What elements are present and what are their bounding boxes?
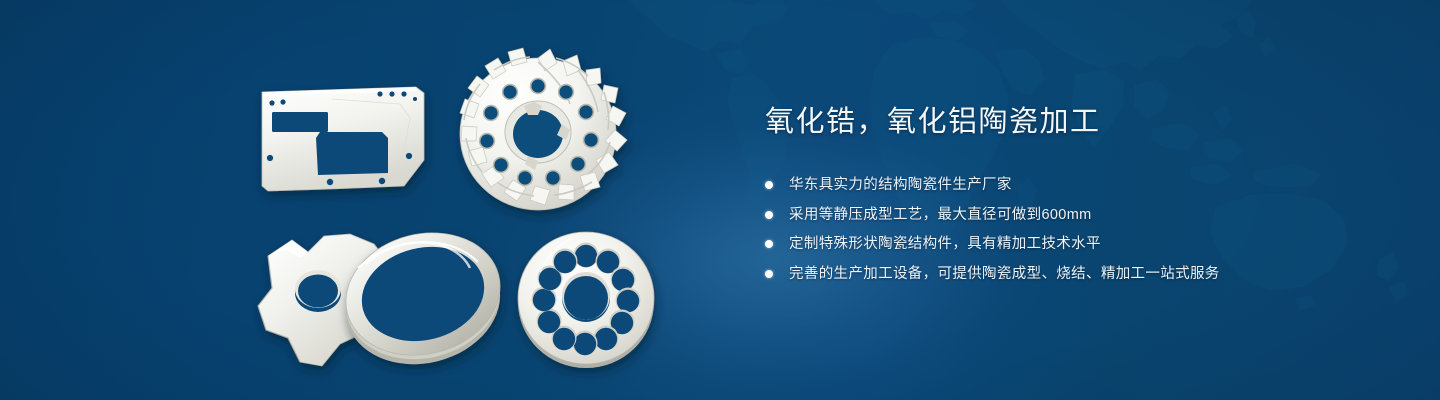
list-item: 定制特殊形状陶瓷结构件，具有精加工技术水平 [765,232,1385,256]
bullet-dot-icon [765,270,773,278]
feature-text: 采用等静压成型工艺，最大直径可做到600mm [789,207,1092,223]
bullet-dot-icon [765,211,773,219]
hero-banner: 氧化锆，氧化铝陶瓷加工 华东具实力的结构陶瓷件生产厂家 采用等静压成型工艺，最大… [0,0,1440,400]
ceramic-plate [262,87,424,191]
page-title: 氧化锆，氧化铝陶瓷加工 [765,104,1385,140]
feature-text: 华东具实力的结构陶瓷件生产厂家 [789,177,1012,193]
ceramic-impeller [460,48,627,210]
product-showcase [0,0,700,400]
feature-text: 定制特殊形状陶瓷结构件，具有精加工技术水平 [789,236,1101,252]
list-item: 华东具实力的结构陶瓷件生产厂家 [765,173,1385,197]
bullet-dot-icon [765,181,773,189]
feature-text: 完善的生产加工设备，可提供陶瓷成型、烧结、精加工一站式服务 [789,266,1220,282]
list-item: 完善的生产加工设备，可提供陶瓷成型、烧结、精加工一站式服务 [765,262,1385,286]
bullet-dot-icon [765,240,773,248]
feature-list: 华东具实力的结构陶瓷件生产厂家 采用等静压成型工艺，最大直径可做到600mm 定… [765,173,1385,286]
list-item: 采用等静压成型工艺，最大直径可做到600mm [765,203,1385,227]
ceramic-hole-disc [518,232,654,368]
banner-copy: 氧化锆，氧化铝陶瓷加工 华东具实力的结构陶瓷件生产厂家 采用等静压成型工艺，最大… [765,104,1385,291]
